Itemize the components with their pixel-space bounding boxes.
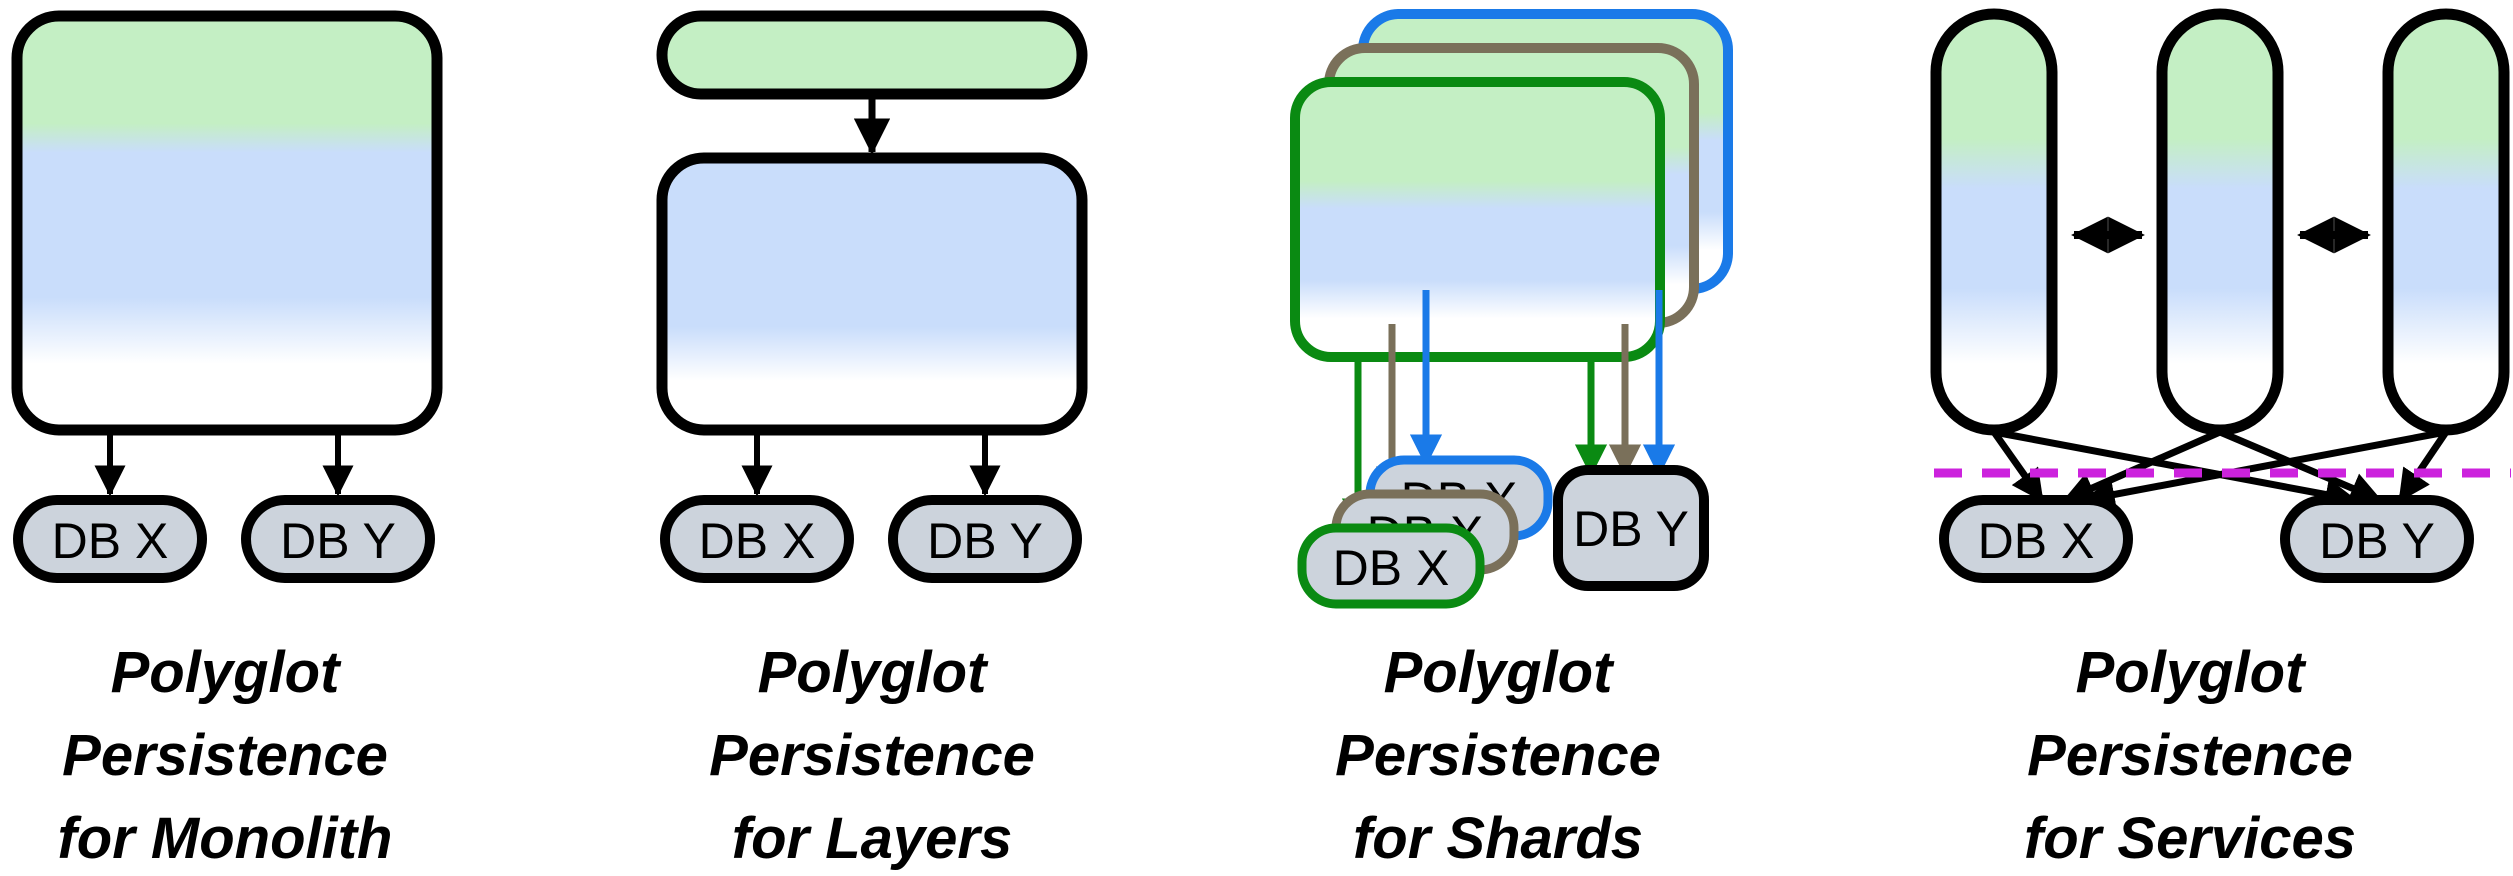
services-caption: Polyglot Persistence for Services [2024, 640, 2356, 871]
layers-caption-line-1: Polyglot [758, 640, 989, 705]
layers-caption: Polyglot Persistence for Layers [709, 640, 1035, 871]
panel-layers: DB X DB Y Polyglot Persistence for Layer… [662, 16, 1082, 871]
panel-services: DB X DB Y Polyglot Persistence for Servi… [1934, 14, 2511, 871]
layers-db-x-label: DB X [699, 513, 816, 569]
layers-caption-line-3: for Layers [732, 806, 1012, 871]
panel-monolith: DB X DB Y Polyglot Persistence for Monol… [17, 16, 437, 871]
shards-card-front[interactable] [1295, 82, 1660, 357]
services-column-1[interactable] [1936, 14, 2052, 430]
shards-db-y-label: DB Y [1573, 501, 1689, 557]
layers-business-block[interactable] [662, 158, 1082, 430]
layers-presentation-block[interactable] [662, 16, 1082, 94]
services-caption-line-2: Persistence [2027, 723, 2353, 788]
shards-caption-line-3: for Shards [1353, 806, 1643, 871]
monolith-db-x-label: DB X [52, 513, 169, 569]
panel-shards: DB X DB X DB X DB Y Polyglot Persistence… [1295, 14, 1728, 871]
services-caption-line-3: for Services [2024, 806, 2356, 871]
monolith-caption-line-2: Persistence [62, 723, 388, 788]
shards-caption-line-1: Polyglot [1384, 640, 1615, 705]
monolith-caption-line-3: for Monolith [57, 806, 392, 871]
monolith-app-block[interactable] [17, 16, 437, 430]
layers-db-y-label: DB Y [927, 513, 1043, 569]
services-db-y-label: DB Y [2319, 513, 2435, 569]
services-db-x-label: DB X [1978, 513, 2095, 569]
monolith-caption: Polyglot Persistence for Monolith [57, 640, 392, 871]
layers-caption-line-2: Persistence [709, 723, 1035, 788]
services-caption-line-1: Polyglot [2076, 640, 2307, 705]
monolith-caption-line-1: Polyglot [111, 640, 342, 705]
shards-db-x-front-label: DB X [1333, 540, 1450, 596]
polyglot-persistence-diagram: DB X DB Y Polyglot Persistence for Monol… [0, 0, 2513, 876]
shards-caption: Polyglot Persistence for Shards [1335, 640, 1661, 871]
diagram-canvas: DB X DB Y Polyglot Persistence for Monol… [0, 0, 2513, 876]
services-column-3[interactable] [2388, 14, 2504, 430]
shards-caption-line-2: Persistence [1335, 723, 1661, 788]
monolith-db-y-label: DB Y [280, 513, 396, 569]
services-column-2[interactable] [2162, 14, 2278, 430]
